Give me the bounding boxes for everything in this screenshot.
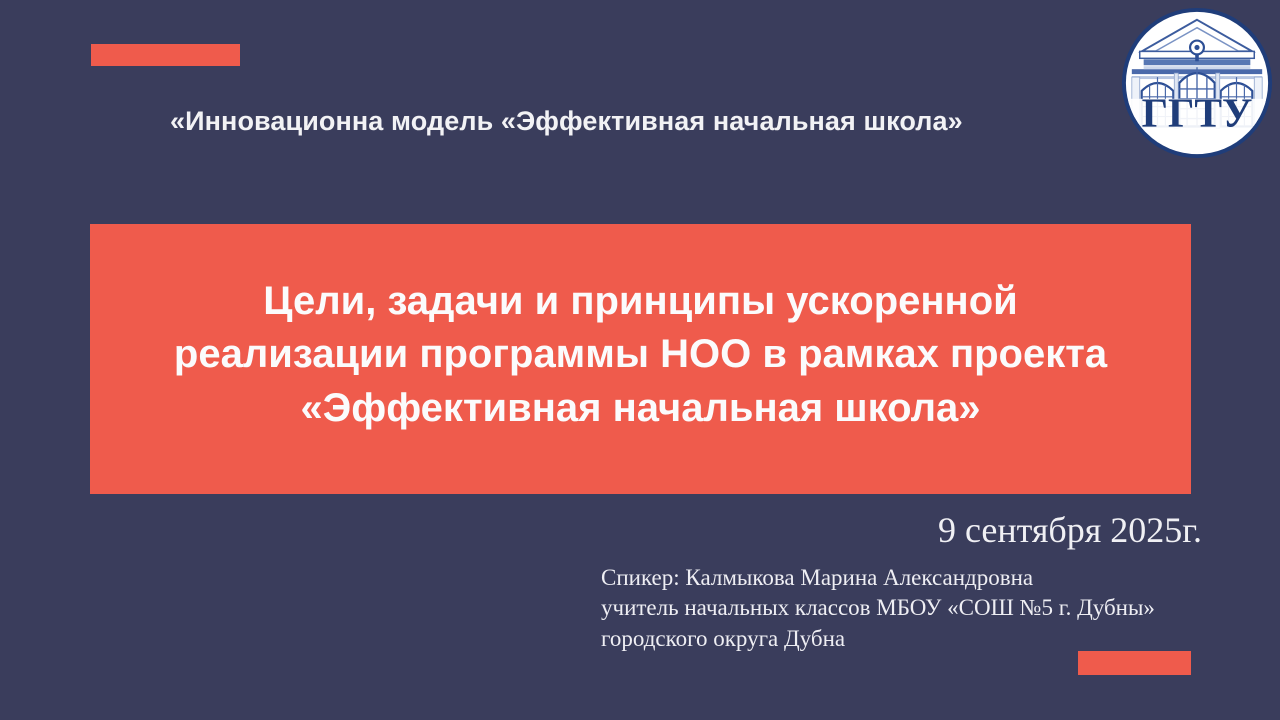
ggtu-logo: ГГТУ <box>1118 4 1276 162</box>
main-title-line-2: реализации программы НОО в рамках проект… <box>121 328 1161 381</box>
speaker-place-line: городского округа Дубна <box>601 624 1201 654</box>
main-title-block: Цели, задачи и принципы ускоренной реали… <box>90 224 1191 494</box>
slide-header-title: «Инновационна модель «Эффективная началь… <box>170 106 1110 137</box>
logo-abbreviation-text: ГГТУ <box>1142 89 1253 135</box>
main-title-text: Цели, задачи и принципы ускоренной реали… <box>121 275 1161 443</box>
speaker-role-line: учитель начальных классов МБОУ «СОШ №5 г… <box>601 593 1201 623</box>
presentation-date: 9 сентября 2025г. <box>938 509 1202 551</box>
main-title-line-3: «Эффективная начальная школа» <box>121 382 1161 435</box>
speaker-info-block: Спикер: Калмыкова Марина Александровна у… <box>601 563 1201 654</box>
presentation-slide: «Инновационна модель «Эффективная началь… <box>0 0 1280 720</box>
speaker-name-line: Спикер: Калмыкова Марина Александровна <box>601 563 1201 593</box>
accent-bar-top-left <box>91 44 240 66</box>
accent-bar-bottom-right <box>1078 651 1191 675</box>
main-title-line-1: Цели, задачи и принципы ускоренной <box>121 275 1161 328</box>
